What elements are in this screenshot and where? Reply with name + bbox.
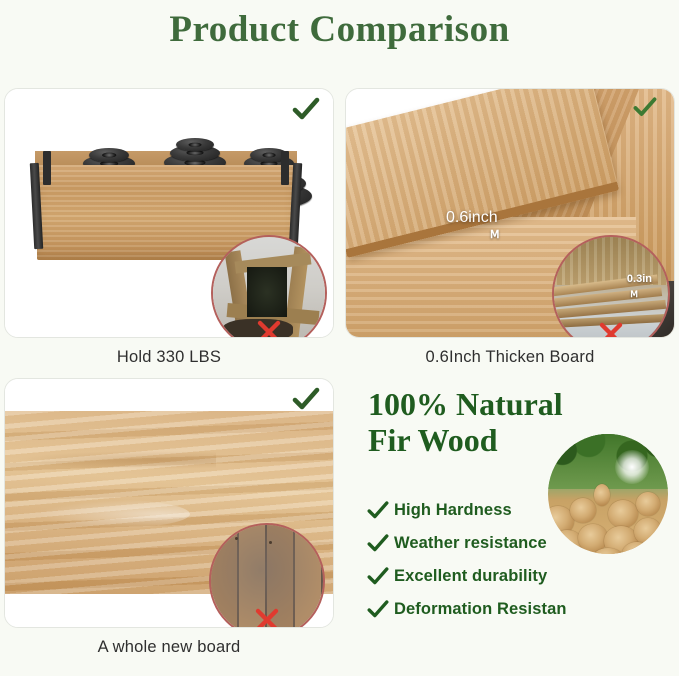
check-icon: [366, 499, 394, 523]
panel-load-capacity-card: [4, 88, 334, 338]
feature-label: Deformation Resistan: [394, 600, 567, 619]
feature-label: High Hardness: [394, 501, 512, 520]
wood-grain-upper: [18, 451, 216, 469]
feature-item: Excellent durability: [366, 560, 567, 593]
panel-natural-fir-wood: 100% Natural Fir Wood: [352, 378, 676, 668]
inset-dimension-marker: Ⅿ: [630, 289, 638, 300]
panel-load-capacity: Hold 330 LBS: [4, 88, 334, 376]
feature-label: Excellent durability: [394, 567, 547, 586]
check-icon: [291, 385, 321, 415]
panel-caption: 0.6Inch Thicken Board: [345, 348, 675, 367]
check-icon: [291, 95, 321, 125]
thickness-label: 0.6inch: [446, 209, 498, 227]
feature-heading-line1: 100% Natural: [368, 386, 573, 422]
feature-item: Deformation Resistan: [366, 593, 567, 626]
feature-heading: 100% Natural Fir Wood: [368, 386, 573, 458]
wood-grain-lower: [38, 499, 190, 529]
panel-whole-new-board-card: [4, 378, 334, 628]
sun-glare: [615, 450, 649, 484]
x-icon: [256, 319, 282, 338]
x-icon: [598, 321, 624, 338]
check-icon: [366, 532, 394, 556]
check-icon: [366, 565, 394, 589]
feature-heading-line2: Fir Wood: [368, 422, 573, 458]
x-icon: [254, 607, 280, 628]
panel-board-thickness: 0.6inch Ⅿ 0.3in Ⅿ: [345, 88, 675, 376]
panel-caption: A whole new board: [4, 638, 334, 657]
feature-item: High Hardness: [366, 494, 567, 527]
feature-list: High Hardness Weather resistance: [366, 494, 567, 626]
planter-bracket-left: [43, 151, 51, 185]
feature-item: Weather resistance: [366, 527, 567, 560]
panel-board-thickness-card: 0.6inch Ⅿ 0.3in Ⅿ: [345, 88, 675, 338]
inset-broken-planter: [211, 235, 327, 338]
inset-old-weathered-boards: [209, 523, 325, 628]
feature-label: Weather resistance: [394, 534, 547, 553]
page-title: Product Comparison: [0, 6, 679, 54]
planter-bracket-right: [281, 151, 289, 185]
dimension-marker: Ⅿ: [490, 231, 500, 240]
panel-caption: Hold 330 LBS: [4, 348, 334, 367]
check-icon: [366, 598, 394, 622]
check-icon: [632, 95, 662, 125]
inset-thickness-label: 0.3in: [627, 273, 652, 285]
panel-whole-new-board: A whole new board: [4, 378, 334, 668]
comparison-grid: Hold 330 LBS 0.6inch Ⅿ: [0, 62, 679, 671]
inset-thin-boards: 0.3in Ⅿ: [552, 235, 670, 338]
